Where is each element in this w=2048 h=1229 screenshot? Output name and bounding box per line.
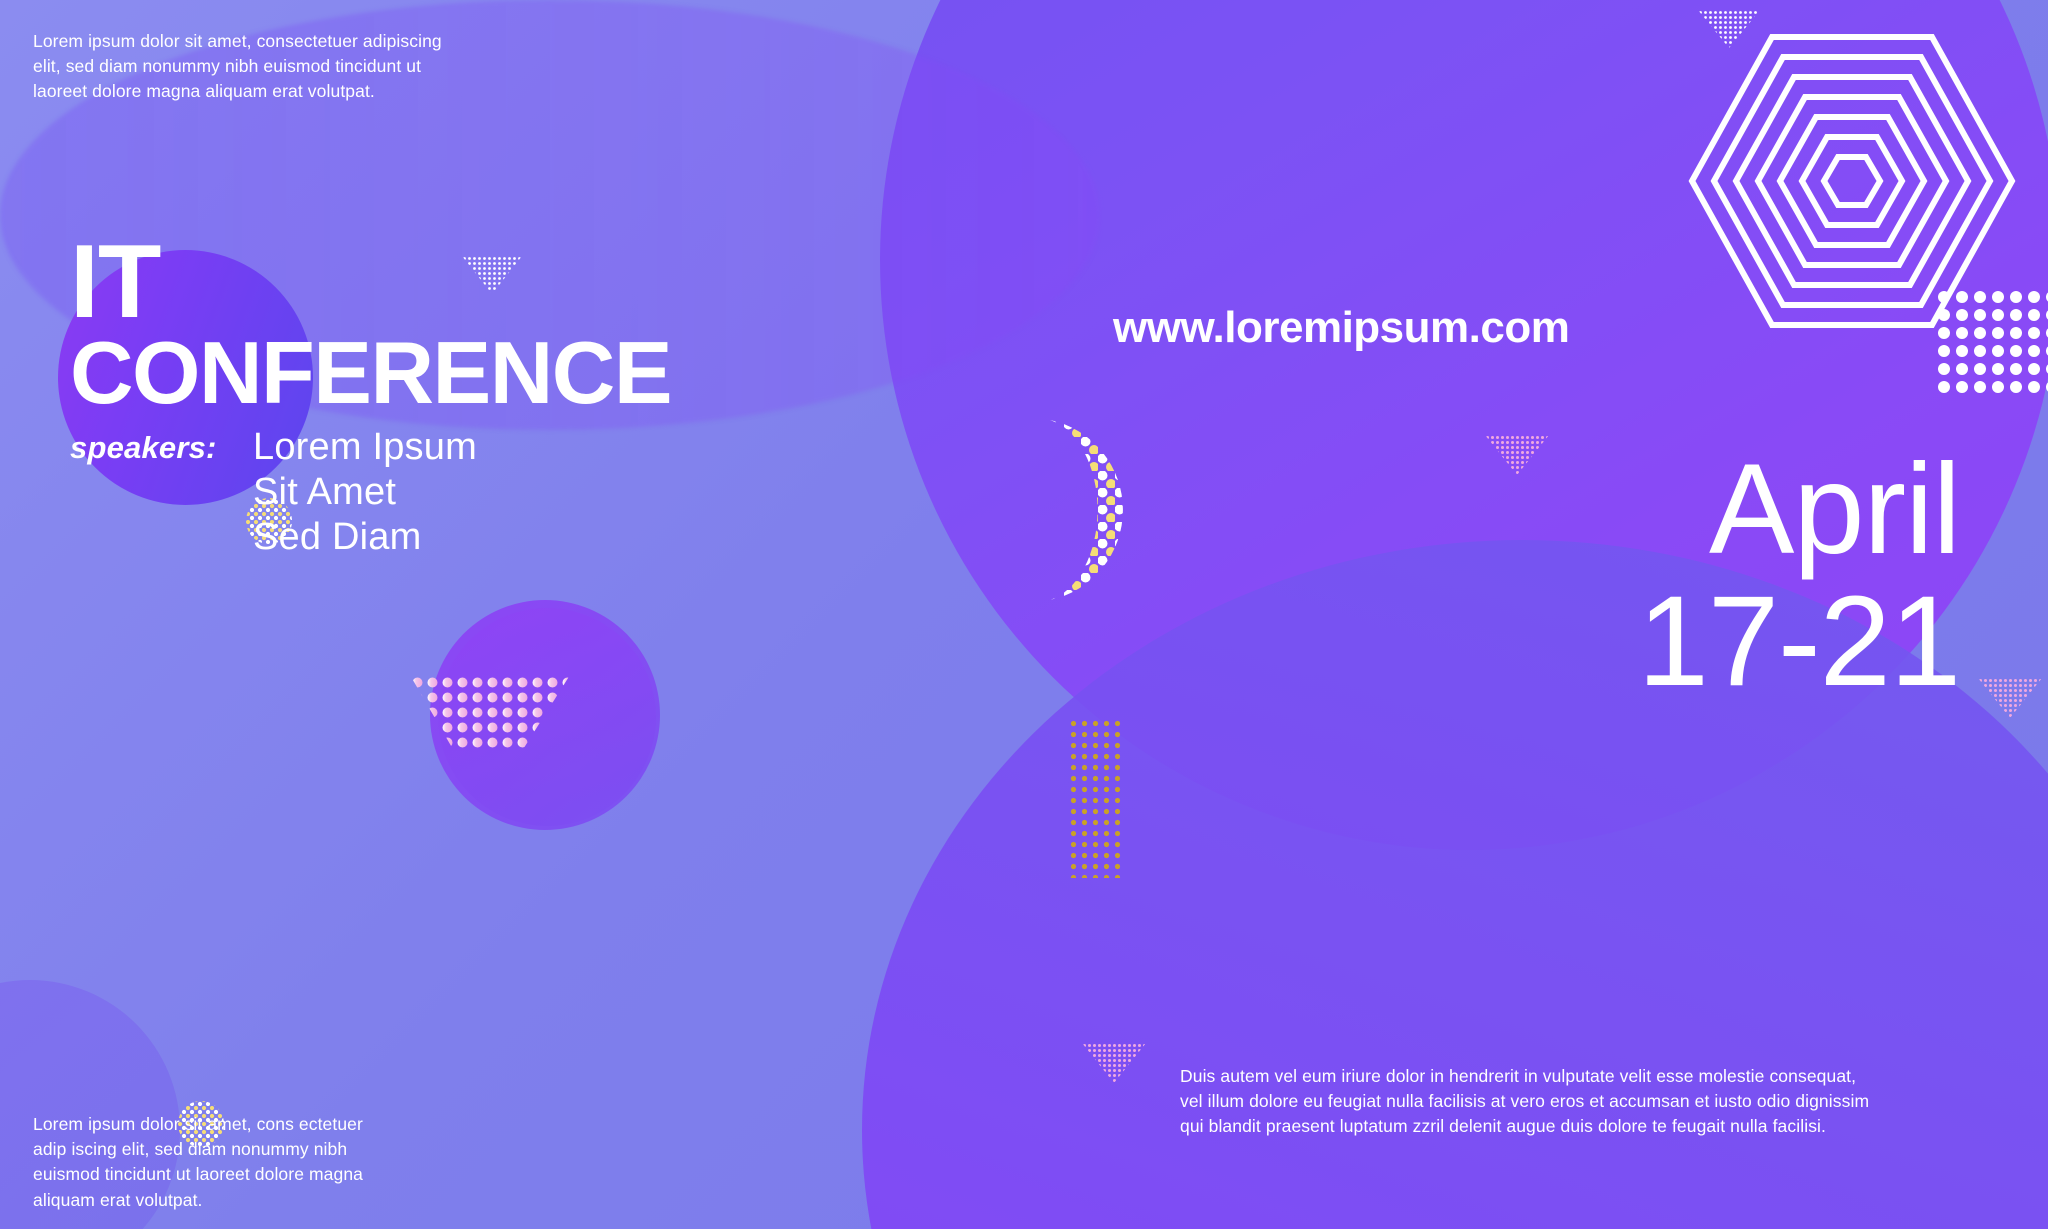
concentric-hexagon-icon [1682,30,2022,332]
event-date: April 17-21 [1638,444,1960,708]
halftone-bowl-icon [410,675,570,755]
halftone-triangle-icon-pink-upper [1485,435,1549,477]
footer-right-paragraph: Duis autem vel eum iriure dolor in hendr… [1180,1064,1880,1140]
halftone-gold-block-icon [1068,718,1124,878]
halftone-crescent-icon [1030,420,1140,600]
intro-paragraph: Lorem ipsum dolor sit amet, consectetuer… [33,29,453,105]
page-title-line2: CONFERENCE [70,331,671,415]
speakers-list: Lorem Ipsum Sit Amet Sed Diam [253,425,477,559]
halftone-triangle-icon-pink-bottom [1082,1043,1146,1085]
halftone-triangle-icon-hex [1698,10,1760,50]
halftone-triangle-icon-title [462,256,522,296]
halftone-triangle-icon-pink-right [1978,678,2042,720]
halftone-grid-right-edge [1935,288,2048,398]
footer-left-paragraph: Lorem ipsum dolor sit amet, cons ectetue… [33,1112,383,1214]
website-url-link[interactable]: www.loremipsum.com [1113,303,1569,353]
page-title-line1: IT [70,233,160,332]
speakers-label: speakers: [70,430,217,466]
conference-poster: Lorem ipsum dolor sit amet, consectetuer… [0,0,2048,1229]
